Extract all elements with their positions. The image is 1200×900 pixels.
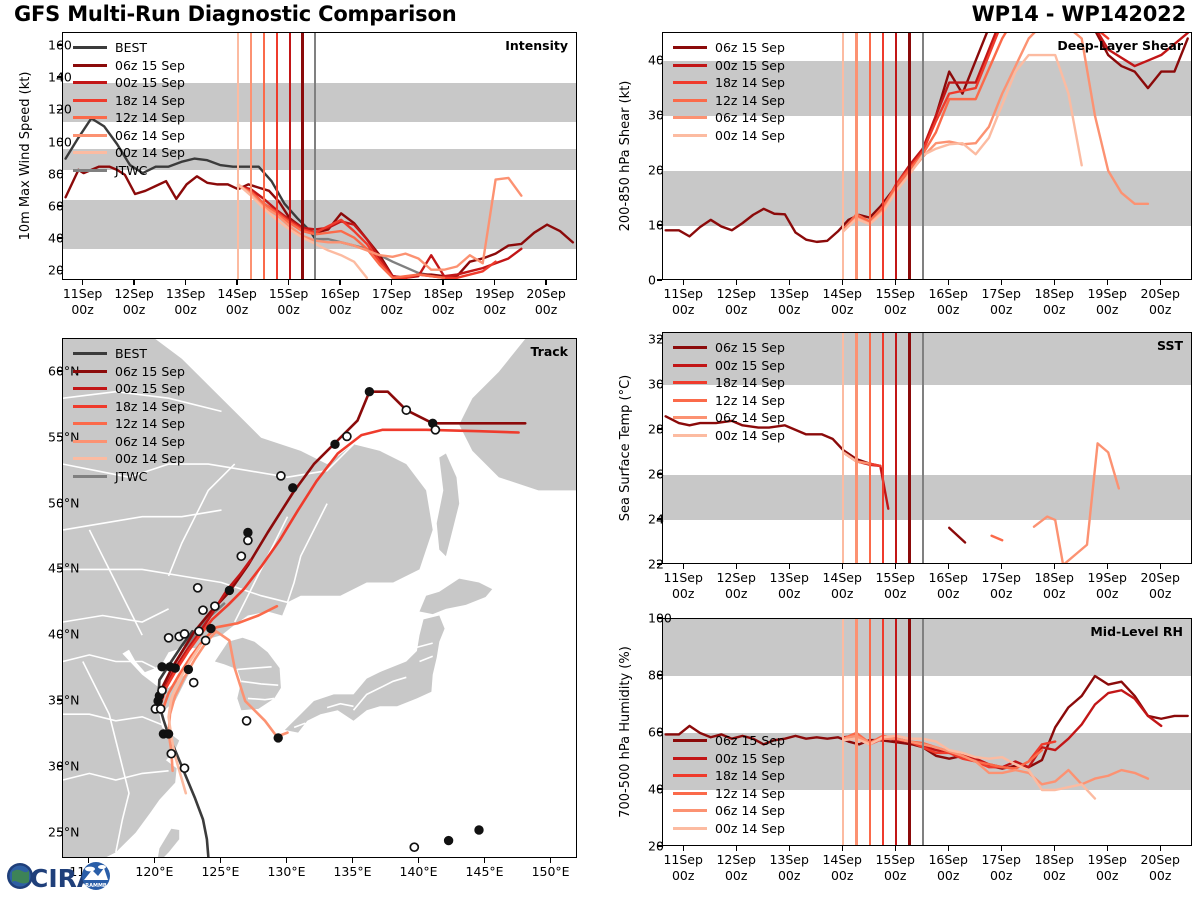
init-line-0 <box>842 619 844 845</box>
legend-item-0: 06z 15 Sep <box>673 339 785 357</box>
legend-item-5: 00z 14 Sep <box>673 820 785 838</box>
x-tick-date: 20Sep <box>511 286 581 302</box>
legend-label: 00z 14 Sep <box>115 451 185 466</box>
x-tick-mark-track-6 <box>484 858 485 863</box>
legend-item-0: 06z 15 Sep <box>673 732 785 750</box>
x-tick-mark-1 <box>736 564 737 569</box>
track-marker-open-1 <box>157 705 165 713</box>
y-tick-label-track-0: 25°N <box>48 824 55 839</box>
legend-label: 00z 14 Sep <box>715 821 785 836</box>
cira-logo: CIRA RAMMB <box>4 854 114 898</box>
x-tick-mark-6 <box>1001 280 1002 285</box>
legend-swatch <box>73 134 107 137</box>
x-tick-mark-4 <box>895 564 896 569</box>
legend-swatch <box>673 399 707 402</box>
x-tick-label-track-1: 120°E <box>119 864 189 880</box>
panel-rh: Mid-Level RH06z 15 Sep00z 15 Sep18z 14 S… <box>662 618 1192 846</box>
x-tick-label-track-6: 145°E <box>450 864 520 880</box>
legend-label: 06z 15 Sep <box>715 733 785 748</box>
y-tick-label-3: 80 <box>648 668 655 683</box>
init-line-3 <box>882 333 884 563</box>
x-tick-mark-1 <box>736 280 737 285</box>
init-line-0 <box>237 33 239 279</box>
track-marker-open-19 <box>431 426 439 434</box>
y-axis-label-shear: 200-850 hPa Shear (kt) <box>618 81 633 232</box>
panel-title-track: Track <box>531 344 568 359</box>
legend-swatch <box>73 387 107 390</box>
y-tick-label-5: 32 <box>648 331 655 346</box>
legend-label: 00z 14 Sep <box>715 128 785 143</box>
y-tick-label-2: 60 <box>48 198 55 213</box>
init-line-4 <box>895 333 897 563</box>
legend-label: 06z 15 Sep <box>115 364 185 379</box>
x-tick-mark-0 <box>683 846 684 851</box>
x-tick-mark-track-7 <box>550 858 551 863</box>
x-tick-hour: 00z <box>511 302 581 318</box>
x-tick-mark-track-3 <box>286 858 287 863</box>
x-tick-mark-2 <box>789 846 790 851</box>
x-tick-mark-track-5 <box>418 858 419 863</box>
panel-title-sst: SST <box>1157 338 1183 353</box>
y-tick-label-6: 140 <box>48 70 55 85</box>
init-line-5 <box>908 619 910 845</box>
x-tick-mark-0 <box>683 564 684 569</box>
chart-legend: 06z 15 Sep00z 15 Sep18z 14 Sep12z 14 Sep… <box>673 339 785 444</box>
legend-swatch <box>73 440 107 443</box>
track-marker-filled-15 <box>274 734 282 742</box>
panel-track: TrackBEST06z 15 Sep00z 15 Sep18z 14 Sep1… <box>62 338 577 858</box>
legend-item-5: 06z 14 Sep <box>73 127 185 145</box>
legend-label: 12z 14 Sep <box>115 416 185 431</box>
legend-item-4: 06z 14 Sep <box>673 409 785 427</box>
legend-swatch <box>73 352 107 355</box>
init-line-1 <box>855 619 857 845</box>
x-tick-mark-3 <box>842 280 843 285</box>
legend-swatch <box>673 827 707 830</box>
legend-item-2: 18z 14 Sep <box>673 374 785 392</box>
track-marker-open-3 <box>165 634 173 642</box>
y-tick-label-4: 30 <box>648 376 655 391</box>
x-tick-mark-track-2 <box>220 858 221 863</box>
legend-label: 06z 15 Sep <box>115 58 185 73</box>
track-marker-filled-7 <box>184 665 192 673</box>
x-tick-date: 20Sep <box>1125 852 1195 868</box>
legend-item-1: 00z 15 Sep <box>673 750 785 768</box>
x-tick-label-track-3: 130°E <box>251 864 321 880</box>
y-tick-mark-0 <box>657 279 662 280</box>
legend-label: 00z 15 Sep <box>715 358 785 373</box>
diagnostic-figure: GFS Multi-Run Diagnostic Comparison WP14… <box>0 0 1200 900</box>
legend-label: BEST <box>115 346 147 361</box>
track-marker-filled-17 <box>444 836 452 844</box>
x-tick-mark-7 <box>1054 846 1055 851</box>
x-tick-label-9: 20Sep00z <box>511 286 581 318</box>
legend-swatch <box>673 757 707 760</box>
legend-label: 00z 15 Sep <box>715 58 785 73</box>
legend-swatch <box>673 99 707 102</box>
x-tick-mark-6 <box>1001 846 1002 851</box>
chart-legend: BEST06z 15 Sep00z 15 Sep18z 14 Sep12z 14… <box>73 39 185 179</box>
legend-item-7: JTWC <box>73 468 185 486</box>
x-tick-mark-9 <box>545 280 546 285</box>
legend-swatch <box>673 792 707 795</box>
page-title: GFS Multi-Run Diagnostic Comparison <box>14 2 456 26</box>
x-tick-mark-7 <box>1054 280 1055 285</box>
y-tick-label-3: 30 <box>648 107 655 122</box>
legend-item-3: 18z 14 Sep <box>73 92 185 110</box>
x-tick-mark-9 <box>1160 846 1161 851</box>
x-tick-mark-track-1 <box>154 858 155 863</box>
legend-label: 18z 14 Sep <box>115 93 185 108</box>
series-line-06z-15-sep <box>66 167 573 278</box>
x-tick-mark-7 <box>1054 564 1055 569</box>
track-marker-open-10 <box>190 679 198 687</box>
plot-area-sst: SST06z 15 Sep00z 15 Sep18z 14 Sep12z 14 … <box>662 332 1192 564</box>
chart-legend: 06z 15 Sep00z 15 Sep18z 14 Sep12z 14 Sep… <box>673 39 785 144</box>
x-tick-label-9: 20Sep00z <box>1125 570 1195 602</box>
track-marker-open-7 <box>202 637 210 645</box>
series-line-12z-14-sep <box>992 536 1003 541</box>
x-tick-label-9: 20Sep00z <box>1125 852 1195 884</box>
panel-title-intensity: Intensity <box>505 38 568 53</box>
svg-text:RAMMB: RAMMB <box>85 883 107 889</box>
x-tick-mark-9 <box>1160 564 1161 569</box>
series-line-06z-14-sep <box>843 736 1148 784</box>
y-tick-label-track-3: 40°N <box>48 627 55 642</box>
landmass-3 <box>420 579 493 615</box>
x-tick-mark-2 <box>185 280 186 285</box>
legend-swatch <box>73 81 107 84</box>
legend-item-3: 12z 14 Sep <box>673 785 785 803</box>
track-marker-open-16 <box>277 472 285 480</box>
x-tick-mark-6 <box>1001 564 1002 569</box>
x-tick-mark-5 <box>948 280 949 285</box>
y-axis-label-sst: Sea Surface Temp (°C) <box>618 375 633 522</box>
x-tick-hour: 00z <box>1125 302 1195 318</box>
x-tick-label-track-5: 140°E <box>384 864 454 880</box>
legend-swatch <box>73 169 107 172</box>
y-tick-label-5: 120 <box>48 102 55 117</box>
init-line-6 <box>922 619 924 845</box>
landmass-6 <box>157 829 179 858</box>
track-marker-open-9 <box>181 764 189 772</box>
legend-item-7: JTWC <box>73 162 185 180</box>
legend-item-3: 18z 14 Sep <box>73 398 185 416</box>
legend-label: 18z 14 Sep <box>715 375 785 390</box>
track-marker-filled-11 <box>289 484 297 492</box>
track-marker-open-12 <box>199 606 207 614</box>
series-line-00z-15-sep <box>843 690 1161 767</box>
init-line-2 <box>869 333 871 563</box>
legend-item-6: 00z 14 Sep <box>73 450 185 468</box>
legend-swatch <box>673 134 707 137</box>
legend-label: 06z 14 Sep <box>115 128 185 143</box>
y-tick-label-2: 20 <box>648 162 655 177</box>
legend-label: 00z 14 Sep <box>115 145 185 160</box>
x-tick-mark-5 <box>948 564 949 569</box>
y-tick-label-2: 26 <box>648 466 655 481</box>
x-tick-mark-1 <box>133 280 134 285</box>
legend-swatch <box>673 809 707 812</box>
legend-label: 00z 15 Sep <box>115 75 185 90</box>
x-tick-mark-3 <box>842 564 843 569</box>
series-line-12z-14-sep <box>238 186 444 278</box>
legend-swatch <box>673 346 707 349</box>
init-line-5 <box>301 33 303 279</box>
init-line-0 <box>842 33 844 279</box>
y-tick-label-7: 160 <box>48 37 55 52</box>
y-tick-label-track-5: 50°N <box>48 495 55 510</box>
legend-swatch <box>73 64 107 67</box>
init-line-5 <box>908 333 910 563</box>
track-marker-open-15 <box>244 536 252 544</box>
init-line-2 <box>263 33 265 279</box>
y-axis-label-rh: 700-500 hPa Humidity (%) <box>618 646 633 818</box>
init-line-6 <box>922 333 924 563</box>
legend-item-4: 06z 14 Sep <box>673 802 785 820</box>
legend-item-4: 12z 14 Sep <box>73 109 185 127</box>
legend-item-1: 00z 15 Sep <box>673 57 785 75</box>
init-line-4 <box>895 619 897 845</box>
track-marker-filled-9 <box>225 586 233 594</box>
chart-legend: BEST06z 15 Sep00z 15 Sep18z 14 Sep12z 14… <box>73 345 185 485</box>
legend-item-1: 06z 15 Sep <box>73 57 185 75</box>
legend-item-3: 12z 14 Sep <box>673 392 785 410</box>
x-tick-mark-8 <box>1107 846 1108 851</box>
x-tick-mark-5 <box>948 846 949 851</box>
track-marker-filled-10 <box>244 528 252 536</box>
y-tick-label-0: 20 <box>48 263 55 278</box>
track-marker-open-11 <box>194 584 202 592</box>
legend-item-2: 18z 14 Sep <box>673 74 785 92</box>
x-tick-label-track-2: 125°E <box>185 864 255 880</box>
track-marker-open-8 <box>167 750 175 758</box>
legend-label: 06z 15 Sep <box>715 40 785 55</box>
legend-swatch <box>673 739 707 742</box>
init-line-2 <box>869 619 871 845</box>
x-tick-label-9: 20Sep00z <box>1125 286 1195 318</box>
legend-label: 06z 14 Sep <box>115 434 185 449</box>
y-tick-label-3: 28 <box>648 421 655 436</box>
legend-label: 12z 14 Sep <box>115 110 185 125</box>
x-tick-mark-4 <box>895 280 896 285</box>
legend-item-5: 00z 14 Sep <box>673 427 785 445</box>
legend-item-5: 00z 14 Sep <box>673 127 785 145</box>
y-tick-label-track-1: 30°N <box>48 758 55 773</box>
panel-title-shear: Deep-Layer Shear <box>1057 38 1183 53</box>
x-tick-mark-2 <box>789 564 790 569</box>
legend-label: 12z 14 Sep <box>715 786 785 801</box>
track-marker-open-21 <box>410 843 418 851</box>
y-tick-label-1: 40 <box>48 231 55 246</box>
track-marker-open-13 <box>211 602 219 610</box>
x-tick-date: 20Sep <box>1125 286 1195 302</box>
panel-title-rh: Mid-Level RH <box>1090 624 1183 639</box>
legend-swatch <box>673 381 707 384</box>
landmass-4 <box>437 454 460 557</box>
y-tick-label-4: 100 <box>48 134 55 149</box>
x-tick-hour: 00z <box>1125 868 1195 884</box>
init-line-4 <box>895 33 897 279</box>
x-tick-mark-3 <box>842 846 843 851</box>
legend-swatch <box>73 422 107 425</box>
legend-item-4: 12z 14 Sep <box>73 415 185 433</box>
track-marker-filled-16 <box>475 826 483 834</box>
plot-area-shear: Deep-Layer Shear06z 15 Sep00z 15 Sep18z … <box>662 32 1192 280</box>
x-tick-mark-9 <box>1160 280 1161 285</box>
track-marker-open-2 <box>158 687 166 695</box>
y-tick-label-track-6: 55°N <box>48 429 55 444</box>
track-marker-open-6 <box>195 627 203 635</box>
x-tick-mark-0 <box>82 280 83 285</box>
y-tick-label-2: 60 <box>648 725 655 740</box>
legend-swatch <box>673 81 707 84</box>
x-tick-mark-6 <box>391 280 392 285</box>
x-tick-mark-4 <box>895 846 896 851</box>
legend-item-0: BEST <box>73 345 185 363</box>
legend-item-6: 00z 14 Sep <box>73 144 185 162</box>
track-marker-open-18 <box>402 406 410 414</box>
x-tick-mark-8 <box>494 280 495 285</box>
track-marker-open-5 <box>181 630 189 638</box>
y-tick-label-4: 40 <box>648 52 655 67</box>
legend-item-2: 00z 15 Sep <box>73 380 185 398</box>
legend-swatch <box>73 457 107 460</box>
legend-label: 00z 15 Sep <box>115 381 185 396</box>
legend-item-1: 00z 15 Sep <box>673 357 785 375</box>
panel-shear: Deep-Layer Shear06z 15 Sep00z 15 Sep18z … <box>662 32 1192 280</box>
legend-swatch <box>673 364 707 367</box>
x-tick-mark-3 <box>236 280 237 285</box>
legend-label: 00z 14 Sep <box>715 428 785 443</box>
y-tick-label-1: 40 <box>648 782 655 797</box>
legend-swatch <box>73 46 107 49</box>
legend-swatch <box>673 434 707 437</box>
init-line-4 <box>289 33 291 279</box>
track-marker-filled-8 <box>207 624 215 632</box>
init-line-1 <box>855 333 857 563</box>
y-tick-label-track-2: 35°N <box>48 693 55 708</box>
x-tick-mark-7 <box>442 280 443 285</box>
panel-intensity: IntensityBEST06z 15 Sep00z 15 Sep18z 14 … <box>62 32 577 280</box>
panel-sst: SST06z 15 Sep00z 15 Sep18z 14 Sep12z 14 … <box>662 332 1192 564</box>
legend-label: 06z 14 Sep <box>715 410 785 425</box>
track-marker-filled-13 <box>365 388 373 396</box>
legend-label: BEST <box>115 40 147 55</box>
legend-swatch <box>673 46 707 49</box>
legend-label: 06z 14 Sep <box>715 803 785 818</box>
legend-swatch <box>673 774 707 777</box>
landmass-2 <box>285 616 445 733</box>
legend-swatch <box>673 64 707 67</box>
legend-swatch <box>73 405 107 408</box>
legend-item-2: 00z 15 Sep <box>73 74 185 92</box>
legend-label: 06z 15 Sep <box>715 340 785 355</box>
init-line-1 <box>250 33 252 279</box>
series-line-06z-15-sep-seg2 <box>949 528 965 543</box>
legend-swatch <box>673 116 707 119</box>
legend-item-5: 06z 14 Sep <box>73 433 185 451</box>
legend-label: 12z 14 Sep <box>715 93 785 108</box>
legend-swatch <box>73 116 107 119</box>
x-tick-mark-track-4 <box>352 858 353 863</box>
track-marker-filled-2 <box>158 663 166 671</box>
x-tick-label-track-7: 150°E <box>516 864 586 880</box>
x-tick-label-track-4: 135°E <box>318 864 388 880</box>
legend-swatch <box>673 416 707 419</box>
y-tick-label-1: 10 <box>648 217 655 232</box>
y-tick-label-track-7: 60°N <box>48 363 55 378</box>
y-tick-label-3: 80 <box>48 166 55 181</box>
legend-item-4: 06z 14 Sep <box>673 109 785 127</box>
x-tick-mark-5 <box>339 280 340 285</box>
y-axis-label-intensity: 10m Max Wind Speed (kt) <box>18 72 33 241</box>
legend-label: 06z 14 Sep <box>715 110 785 125</box>
x-tick-mark-2 <box>789 280 790 285</box>
legend-swatch <box>73 370 107 373</box>
init-line-5 <box>908 33 910 279</box>
y-tick-label-1: 24 <box>648 511 655 526</box>
track-marker-filled-12 <box>331 440 339 448</box>
legend-label: 12z 14 Sep <box>715 393 785 408</box>
x-tick-mark-0 <box>683 280 684 285</box>
track-marker-filled-6 <box>164 730 172 738</box>
init-line-1 <box>855 33 857 279</box>
plot-area-track: TrackBEST06z 15 Sep00z 15 Sep18z 14 Sep1… <box>62 338 577 858</box>
init-line-3 <box>882 619 884 845</box>
track-marker-open-14 <box>237 552 245 560</box>
plot-area-rh: Mid-Level RH06z 15 Sep00z 15 Sep18z 14 S… <box>662 618 1192 846</box>
x-tick-mark-1 <box>736 846 737 851</box>
x-tick-mark-8 <box>1107 564 1108 569</box>
y-tick-label-4: 100 <box>648 611 655 626</box>
init-line-6 <box>922 33 924 279</box>
legend-swatch <box>73 475 107 478</box>
storm-id-title: WP14 - WP142022 <box>972 2 1186 26</box>
legend-item-1: 06z 15 Sep <box>73 363 185 381</box>
x-tick-hour: 00z <box>1125 586 1195 602</box>
legend-label: 18z 14 Sep <box>715 75 785 90</box>
legend-item-2: 18z 14 Sep <box>673 767 785 785</box>
legend-item-0: 06z 15 Sep <box>673 39 785 57</box>
chart-legend: 06z 15 Sep00z 15 Sep18z 14 Sep12z 14 Sep… <box>673 732 785 837</box>
track-marker-open-17 <box>343 432 351 440</box>
plot-area-intensity: IntensityBEST06z 15 Sep00z 15 Sep18z 14 … <box>62 32 577 280</box>
legend-swatch <box>73 99 107 102</box>
init-line-6 <box>314 33 316 279</box>
y-tick-label-track-4: 45°N <box>48 561 55 576</box>
legend-item-3: 12z 14 Sep <box>673 92 785 110</box>
legend-label: 00z 15 Sep <box>715 751 785 766</box>
legend-label: 18z 14 Sep <box>715 768 785 783</box>
landmass-5 <box>459 339 577 490</box>
init-line-3 <box>276 33 278 279</box>
x-tick-date: 20Sep <box>1125 570 1195 586</box>
x-tick-mark-4 <box>288 280 289 285</box>
init-line-3 <box>882 33 884 279</box>
x-tick-mark-8 <box>1107 280 1108 285</box>
track-marker-filled-4 <box>171 664 179 672</box>
legend-label: 18z 14 Sep <box>115 399 185 414</box>
init-line-2 <box>869 33 871 279</box>
legend-swatch <box>73 151 107 154</box>
legend-label: JTWC <box>115 163 147 178</box>
init-line-0 <box>842 333 844 563</box>
series-line-06z-14-sep-seg2 <box>1034 443 1119 564</box>
legend-item-0: BEST <box>73 39 185 57</box>
track-marker-open-20 <box>243 717 251 725</box>
legend-label: JTWC <box>115 469 147 484</box>
